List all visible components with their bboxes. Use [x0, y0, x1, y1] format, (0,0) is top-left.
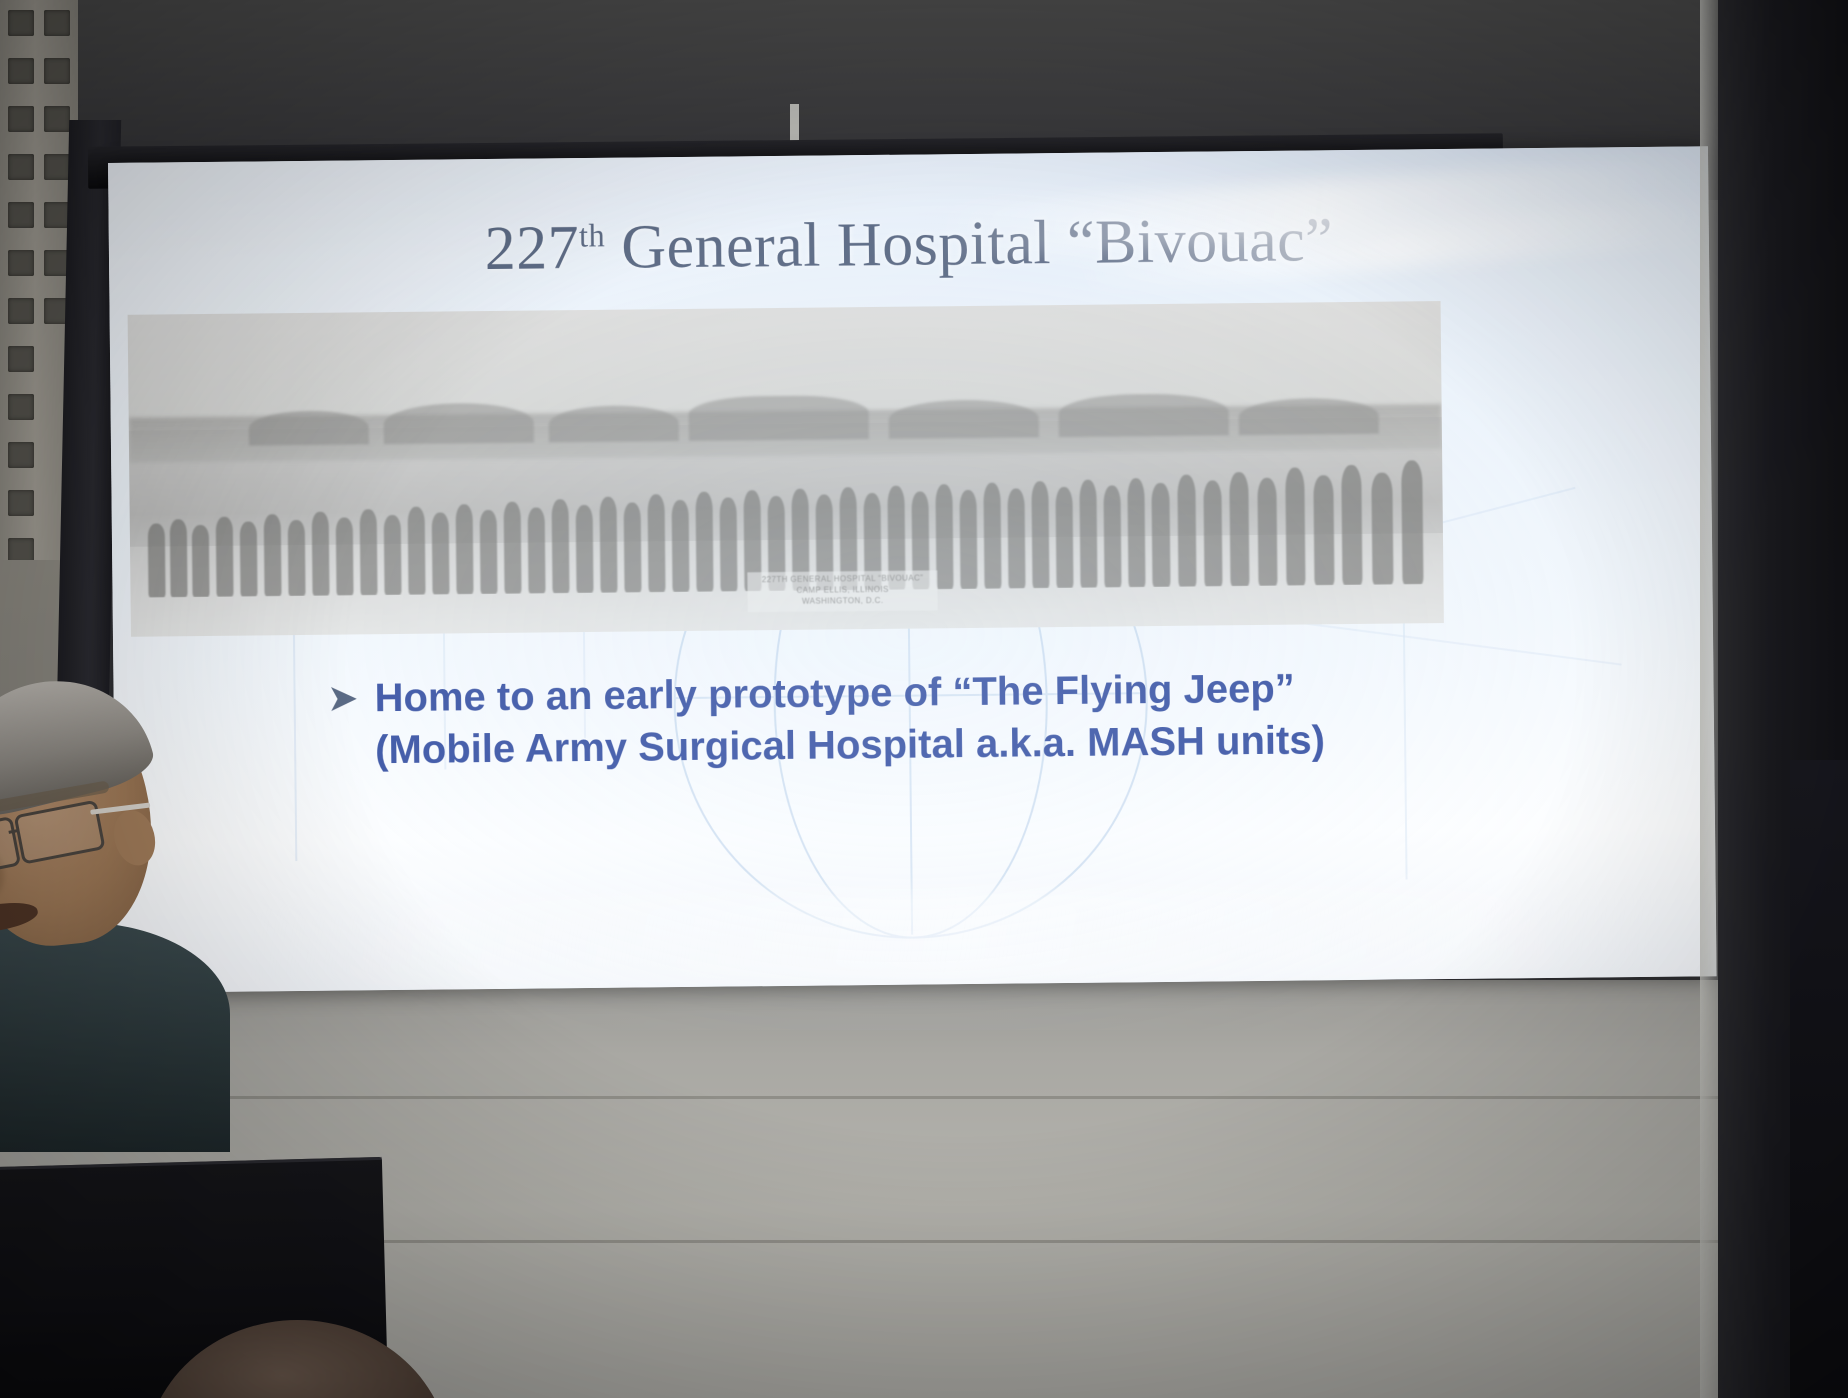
presenter	[0, 690, 260, 1110]
presenter-head	[0, 681, 163, 954]
slide-title-rest: General Hospital “Bivouac”	[605, 206, 1334, 282]
projection-screen: 227th General Hospital “Bivouac”	[108, 146, 1717, 993]
slide-title: 227th General Hospital “Bivouac”	[109, 201, 1710, 289]
slide-content: 227th General Hospital “Bivouac”	[108, 146, 1717, 993]
photo-caption-line-3: WASHINGTON, D.C.	[748, 594, 938, 607]
bullet-item-continuation: (Mobile Army Surgical Hospital a.k.a. MA…	[329, 712, 1529, 777]
photo-caption: 227TH GENERAL HOSPITAL “BIVOUAC” CAMP EL…	[747, 570, 937, 612]
slide-bullet-list: ➤ Home to an early prototype of “The Fly…	[328, 660, 1529, 777]
slide-title-ordinal-suffix: th	[579, 217, 605, 253]
right-pillar-shadow	[1790, 760, 1848, 1398]
historic-group-photo: 227TH GENERAL HOSPITAL “BIVOUAC” CAMP EL…	[128, 301, 1444, 637]
presenter-shoulders	[0, 922, 230, 1152]
bullet-line-2: (Mobile Army Surgical Hospital a.k.a. MA…	[375, 712, 1529, 776]
wall-seam-upper	[0, 1096, 1848, 1099]
bullet-arrow-icon: ➤	[328, 672, 375, 724]
screenshot-root: 227th General Hospital “Bivouac”	[0, 0, 1848, 1398]
slide-title-number: 227	[484, 214, 579, 283]
